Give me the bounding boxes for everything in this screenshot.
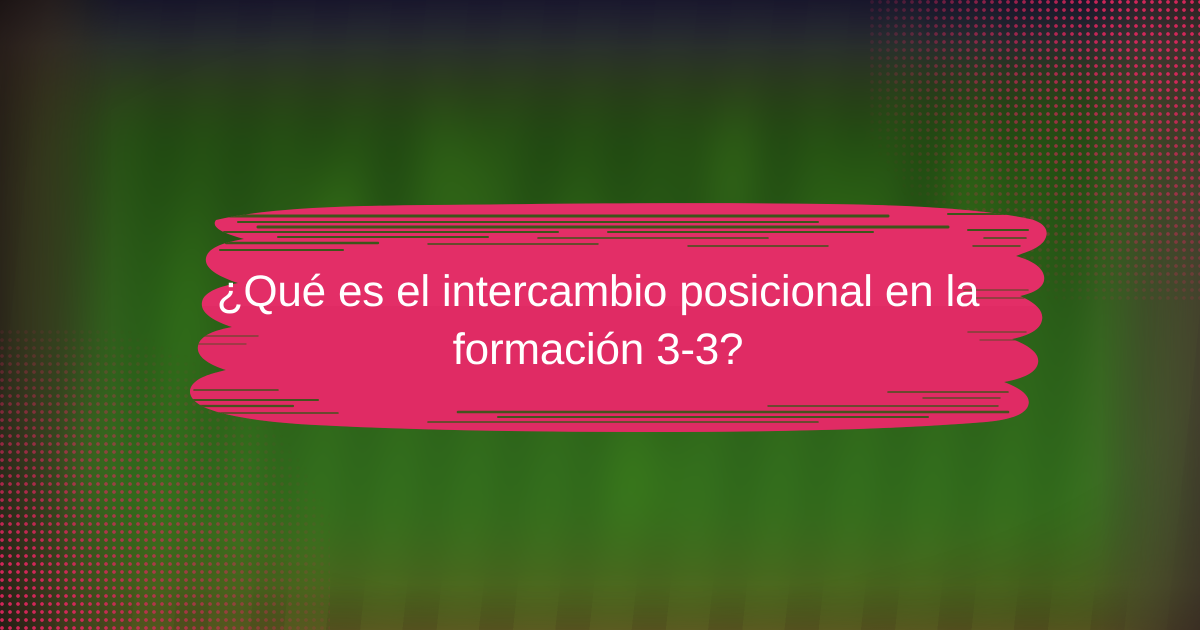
headline-line-2: formación 3-3? — [453, 321, 744, 379]
banner-headline: ¿Qué es el intercambio posicional en la … — [278, 246, 918, 396]
brush-stroke-banner: ¿Qué es el intercambio posicional en la … — [128, 186, 1058, 448]
headline-line-1: ¿Qué es el intercambio posicional en la — [217, 263, 980, 321]
share-card: ¿Qué es el intercambio posicional en la … — [0, 0, 1200, 630]
